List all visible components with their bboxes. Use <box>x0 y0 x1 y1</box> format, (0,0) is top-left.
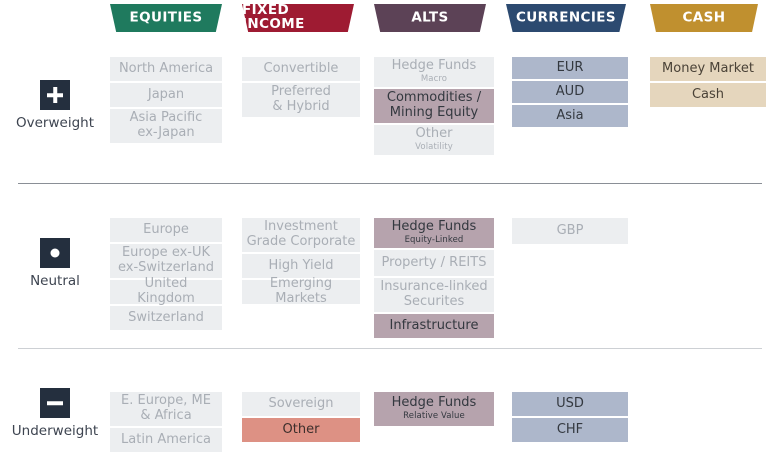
allocation-cell-label: GBP <box>557 224 584 239</box>
cell-stack-neutral-alts: Hedge FundsEquity-LinkedProperty / REITS… <box>374 218 494 338</box>
allocation-cell[interactable]: GBP <box>512 218 628 244</box>
allocation-cell-label: AUD <box>556 85 584 100</box>
column-header-currencies: CURRENCIES <box>506 4 626 32</box>
allocation-cell[interactable]: North America <box>110 57 222 81</box>
row-label-overweight: Overweight <box>0 80 110 131</box>
allocation-cell[interactable]: Convertible <box>242 57 360 81</box>
allocation-cell[interactable]: Asia <box>512 105 628 127</box>
allocation-cell[interactable]: Latin America <box>110 428 222 452</box>
allocation-cell-label: Asia <box>556 109 583 124</box>
allocation-cell[interactable]: Emerging Markets <box>242 280 360 304</box>
allocation-cell[interactable]: AUD <box>512 81 628 103</box>
minus-marker-icon <box>40 388 70 418</box>
allocation-cell-sublabel: Macro <box>421 74 447 85</box>
allocation-cell-label: Other <box>416 127 453 142</box>
cell-stack-neutral-fixedincome: InvestmentGrade CorporateHigh YieldEmerg… <box>242 218 360 304</box>
allocation-cell[interactable]: Money Market <box>650 57 766 81</box>
allocation-cell-label: Europe ex-UKex-Switzerland <box>118 246 214 275</box>
allocation-cell[interactable]: Other <box>242 418 360 442</box>
neutral-dot <box>51 249 60 258</box>
minus-bar <box>47 401 63 405</box>
category-header-row: EQUITIESFIXED INCOMEALTSCURRENCIESCASH <box>0 4 776 34</box>
allocation-cell-sublabel: Volatility <box>415 142 453 153</box>
column-header-label: CURRENCIES <box>516 11 616 25</box>
column-header-label: CASH <box>683 11 726 25</box>
cell-stack-overweight-alts: Hedge FundsMacroCommodities /Mining Equi… <box>374 57 494 155</box>
allocation-cell[interactable]: USD <box>512 392 628 416</box>
row-divider-0 <box>18 183 762 184</box>
allocation-cell[interactable]: Insurance-linkedSecurites <box>374 278 494 312</box>
column-header-alts: ALTS <box>374 4 486 32</box>
column-header-cash: CASH <box>650 4 758 32</box>
allocation-cell[interactable]: Switzerland <box>110 306 222 330</box>
allocation-cell-label: CHF <box>557 423 583 438</box>
allocation-cell-label: Hedge Funds <box>392 396 477 411</box>
allocation-cell-label: EUR <box>557 61 584 76</box>
allocation-cell-label: Infrastructure <box>390 319 479 334</box>
allocation-cell-label: Hedge Funds <box>392 220 477 235</box>
allocation-cell-label: InvestmentGrade Corporate <box>247 220 356 249</box>
allocation-cell[interactable]: OtherVolatility <box>374 125 494 155</box>
allocation-cell-sublabel: Relative Value <box>403 411 465 422</box>
allocation-cell-label: Insurance-linkedSecurites <box>380 280 487 309</box>
allocation-cell[interactable]: High Yield <box>242 254 360 278</box>
cell-stack-underweight-equities: E. Europe, ME& AfricaLatin America <box>110 392 222 452</box>
allocation-cell-sublabel: Equity-Linked <box>405 235 464 246</box>
allocation-cell[interactable]: Europe <box>110 218 222 242</box>
allocation-cell[interactable]: E. Europe, ME& Africa <box>110 392 222 426</box>
allocation-cell[interactable]: United Kingdom <box>110 280 222 304</box>
allocation-cell-label: Commodities /Mining Equity <box>387 91 481 120</box>
allocation-cell-label: E. Europe, ME& Africa <box>121 394 211 423</box>
allocation-cell-label: USD <box>556 397 584 412</box>
cell-stack-overweight-fixedincome: ConvertiblePreferred& Hybrid <box>242 57 360 117</box>
allocation-cell[interactable]: Europe ex-UKex-Switzerland <box>110 244 222 278</box>
allocation-cell-label: Hedge Funds <box>392 59 477 74</box>
cell-stack-overweight-equities: North AmericaJapanAsia Pacificex-Japan <box>110 57 222 143</box>
allocation-cell[interactable]: Commodities /Mining Equity <box>374 89 494 123</box>
allocation-cell-label: Asia Pacificex-Japan <box>130 111 203 140</box>
row-label-underweight: Underweight <box>0 388 110 439</box>
allocation-cell[interactable]: Property / REITS <box>374 250 494 276</box>
allocation-cell-label: Property / REITS <box>382 256 487 271</box>
allocation-cell-label: Europe <box>143 223 189 238</box>
cell-stack-neutral-equities: EuropeEurope ex-UKex-SwitzerlandUnited K… <box>110 218 222 330</box>
allocation-cell-label: Cash <box>692 88 724 103</box>
allocation-cell-label: North America <box>119 62 213 77</box>
allocation-cell[interactable]: Infrastructure <box>374 314 494 338</box>
cell-stack-underweight-currencies: USDCHF <box>512 392 628 442</box>
allocation-cell[interactable]: Hedge FundsMacro <box>374 57 494 87</box>
dot-marker-icon <box>40 238 70 268</box>
cell-stack-underweight-alts: Hedge FundsRelative Value <box>374 392 494 426</box>
row-divider-1 <box>18 348 762 349</box>
plus-marker-icon <box>40 80 70 110</box>
allocation-cell[interactable]: Sovereign <box>242 392 360 416</box>
allocation-cell[interactable]: InvestmentGrade Corporate <box>242 218 360 252</box>
plus-bar-vertical <box>53 87 57 103</box>
allocation-cell-label: Other <box>283 423 320 438</box>
allocation-cell[interactable]: EUR <box>512 57 628 79</box>
column-header-label: EQUITIES <box>129 11 202 25</box>
cell-stack-overweight-cash: Money MarketCash <box>650 57 766 107</box>
allocation-cell-label: High Yield <box>269 259 334 274</box>
allocation-cell[interactable]: Hedge FundsEquity-Linked <box>374 218 494 248</box>
allocation-cell-label: Sovereign <box>268 397 333 412</box>
row-label-text: Underweight <box>0 423 110 439</box>
column-header-equities: EQUITIES <box>110 4 222 32</box>
column-header-label: FIXED INCOME <box>242 5 354 32</box>
allocation-cell-label: Japan <box>148 88 184 103</box>
row-label-neutral: Neutral <box>0 238 110 289</box>
row-label-text: Overweight <box>0 115 110 131</box>
allocation-cell[interactable]: Preferred& Hybrid <box>242 83 360 117</box>
allocation-cell[interactable]: Hedge FundsRelative Value <box>374 392 494 426</box>
allocation-cell[interactable]: Cash <box>650 83 766 107</box>
allocation-cell-label: Preferred& Hybrid <box>271 85 331 114</box>
allocation-cell-label: Convertible <box>264 62 339 77</box>
allocation-cell-label: United Kingdom <box>114 277 218 306</box>
column-header-label: ALTS <box>411 11 448 25</box>
row-label-text: Neutral <box>0 273 110 289</box>
column-header-fixedincome: FIXED INCOME <box>242 4 354 32</box>
cell-stack-neutral-currencies: GBP <box>512 218 628 244</box>
allocation-cell[interactable]: Japan <box>110 83 222 107</box>
allocation-cell-label: Latin America <box>121 433 211 448</box>
allocation-cell[interactable]: Asia Pacificex-Japan <box>110 109 222 143</box>
allocation-cell[interactable]: CHF <box>512 418 628 442</box>
cell-stack-overweight-currencies: EURAUDAsia <box>512 57 628 127</box>
cell-stack-underweight-fixedincome: SovereignOther <box>242 392 360 442</box>
allocation-cell-label: Emerging Markets <box>246 277 356 306</box>
allocation-cell-label: Money Market <box>662 62 754 77</box>
allocation-cell-label: Switzerland <box>128 311 204 326</box>
